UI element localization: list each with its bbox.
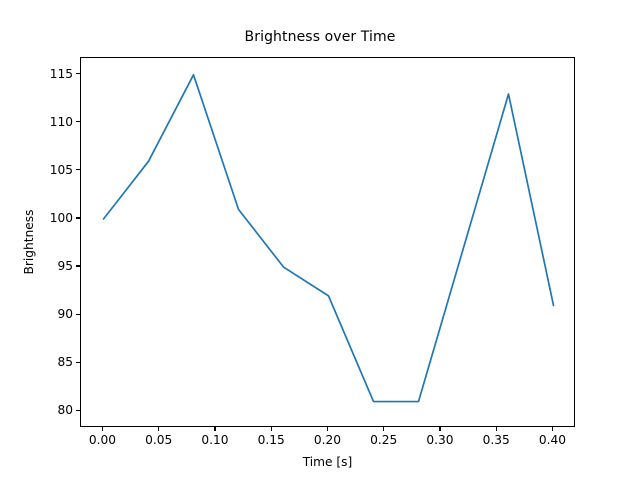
x-tick-label: 0.00: [89, 433, 116, 447]
x-tick-label: 0.25: [370, 433, 397, 447]
chart-figure: Brightness over Time 8085909510010511011…: [0, 0, 640, 480]
brightness-line-series: [104, 75, 554, 402]
y-axis-label: Brightness: [22, 57, 36, 427]
x-tick-label: 0.20: [314, 433, 341, 447]
x-tick-label: 0.40: [539, 433, 566, 447]
x-tick-label: 0.05: [145, 433, 172, 447]
x-axis-label: Time [s]: [80, 455, 575, 469]
chart-title: Brightness over Time: [0, 29, 640, 45]
x-tick-label: 0.35: [483, 433, 510, 447]
x-tick-label: 0.30: [426, 433, 453, 447]
x-tick-label: 0.15: [258, 433, 285, 447]
plot-axes-area: [80, 57, 575, 427]
plot-canvas: [81, 58, 576, 428]
x-tick-label: 0.10: [201, 433, 228, 447]
